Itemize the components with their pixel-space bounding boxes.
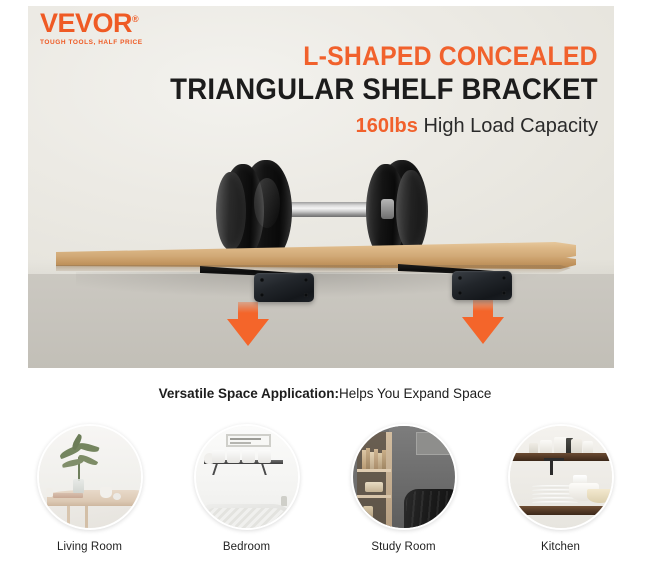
shelf-item [227, 450, 240, 463]
application-label-bedroom: Bedroom [223, 541, 270, 553]
frame-line [230, 442, 250, 444]
application-label-study-room: Study Room [371, 541, 435, 553]
hero-banner: VEVOR® TOUGH TOOLS, HALF PRICE L-SHAPED … [28, 6, 614, 368]
shelf-decoration [365, 482, 383, 492]
scene-bedroom [196, 426, 298, 528]
book [382, 450, 386, 468]
down-arrow-icon-left [227, 302, 269, 346]
application-photo-bedroom [194, 424, 300, 530]
bookcase-side-panel [386, 432, 392, 528]
bracket-screw-hole [304, 293, 308, 297]
bookcase-shelf [357, 469, 392, 472]
shelf-item [212, 450, 225, 463]
brand-logo: VEVOR® TOUGH TOOLS, HALF PRICE [40, 10, 143, 46]
wall-panel [416, 432, 457, 454]
bracket-screw-hole [502, 291, 506, 295]
chair-ribs [406, 491, 457, 528]
scene-living-room [39, 426, 141, 528]
bracket-screw-hole [260, 293, 264, 297]
headline-secondary: TRIANGULAR SHELF BRACKET [170, 73, 598, 106]
application-photo-study-room [351, 424, 457, 530]
arrow-head [227, 319, 269, 346]
application-item-kitchen[interactable]: Kitchen [506, 424, 616, 553]
shelf-decoration [363, 506, 373, 520]
bracket-screw-hole [458, 291, 462, 295]
shelf-top-surface [56, 242, 576, 259]
table-leg [85, 505, 88, 528]
bracket-screw-hole [502, 276, 506, 280]
kitchen-lower-shelf [510, 506, 612, 515]
scene-kitchen [510, 426, 612, 528]
headline-primary: L-SHAPED CONCEALED [170, 42, 598, 70]
bed-blanket [206, 508, 294, 528]
application-caption-bold: Versatile Space Application: [159, 386, 339, 401]
application-gallery: Living Room Bedroom [0, 424, 650, 553]
dumbbell-plate-left-inner [216, 172, 246, 250]
shelf-support [212, 464, 218, 475]
shelf-item [242, 450, 255, 463]
shelf-bracket-arm [544, 458, 564, 461]
dumbbell-plate-right-inner [396, 170, 426, 250]
frame-line [230, 438, 261, 440]
application-caption: Versatile Space Application:Helps You Ex… [0, 386, 650, 401]
bracket-plate-right [452, 271, 512, 300]
plate [532, 497, 578, 500]
wall-picture-frame [226, 434, 271, 447]
book-stack [53, 493, 83, 498]
bracket-plate-left [254, 273, 314, 302]
brand-tagline: TOUGH TOOLS, HALF PRICE [40, 39, 143, 46]
arrow-head [462, 317, 504, 344]
application-caption-rest: Helps You Expand Space [339, 386, 491, 401]
application-photo-living-room [37, 424, 143, 530]
registered-trademark-icon: ® [132, 14, 138, 24]
ceramic-cup [100, 487, 112, 498]
scene-study-room [353, 426, 455, 528]
application-photo-kitchen [508, 424, 614, 530]
shelf-support [261, 464, 267, 475]
table-leg [67, 505, 70, 528]
brand-name: VEVOR® [40, 10, 143, 37]
down-arrow-icon-right [462, 300, 504, 344]
application-item-study-room[interactable]: Study Room [349, 424, 459, 553]
capacity-text: High Load Capacity [418, 115, 598, 137]
brand-name-text: VEVOR [40, 8, 132, 38]
application-label-kitchen: Kitchen [541, 541, 580, 553]
bracket-screw-hole [458, 276, 462, 280]
capacity-line: 160lbs High Load Capacity [133, 115, 598, 137]
small-object [46, 488, 53, 497]
shelf-bracket-post [550, 458, 553, 475]
hero-headline-group: L-SHAPED CONCEALED TRIANGULAR SHELF BRAC… [133, 42, 598, 137]
shelf-item [258, 450, 271, 463]
plate [532, 501, 578, 504]
dumbbell-end-bolt [381, 199, 394, 219]
application-item-living-room[interactable]: Living Room [35, 424, 145, 553]
bookcase-shelf [357, 495, 392, 498]
application-label-living-room: Living Room [57, 541, 122, 553]
bracket-screw-hole [304, 278, 308, 282]
bracket-screw-hole [260, 278, 264, 282]
capacity-value: 160lbs [356, 115, 418, 137]
dumbbell-highlight [254, 178, 280, 228]
application-item-bedroom[interactable]: Bedroom [192, 424, 302, 553]
